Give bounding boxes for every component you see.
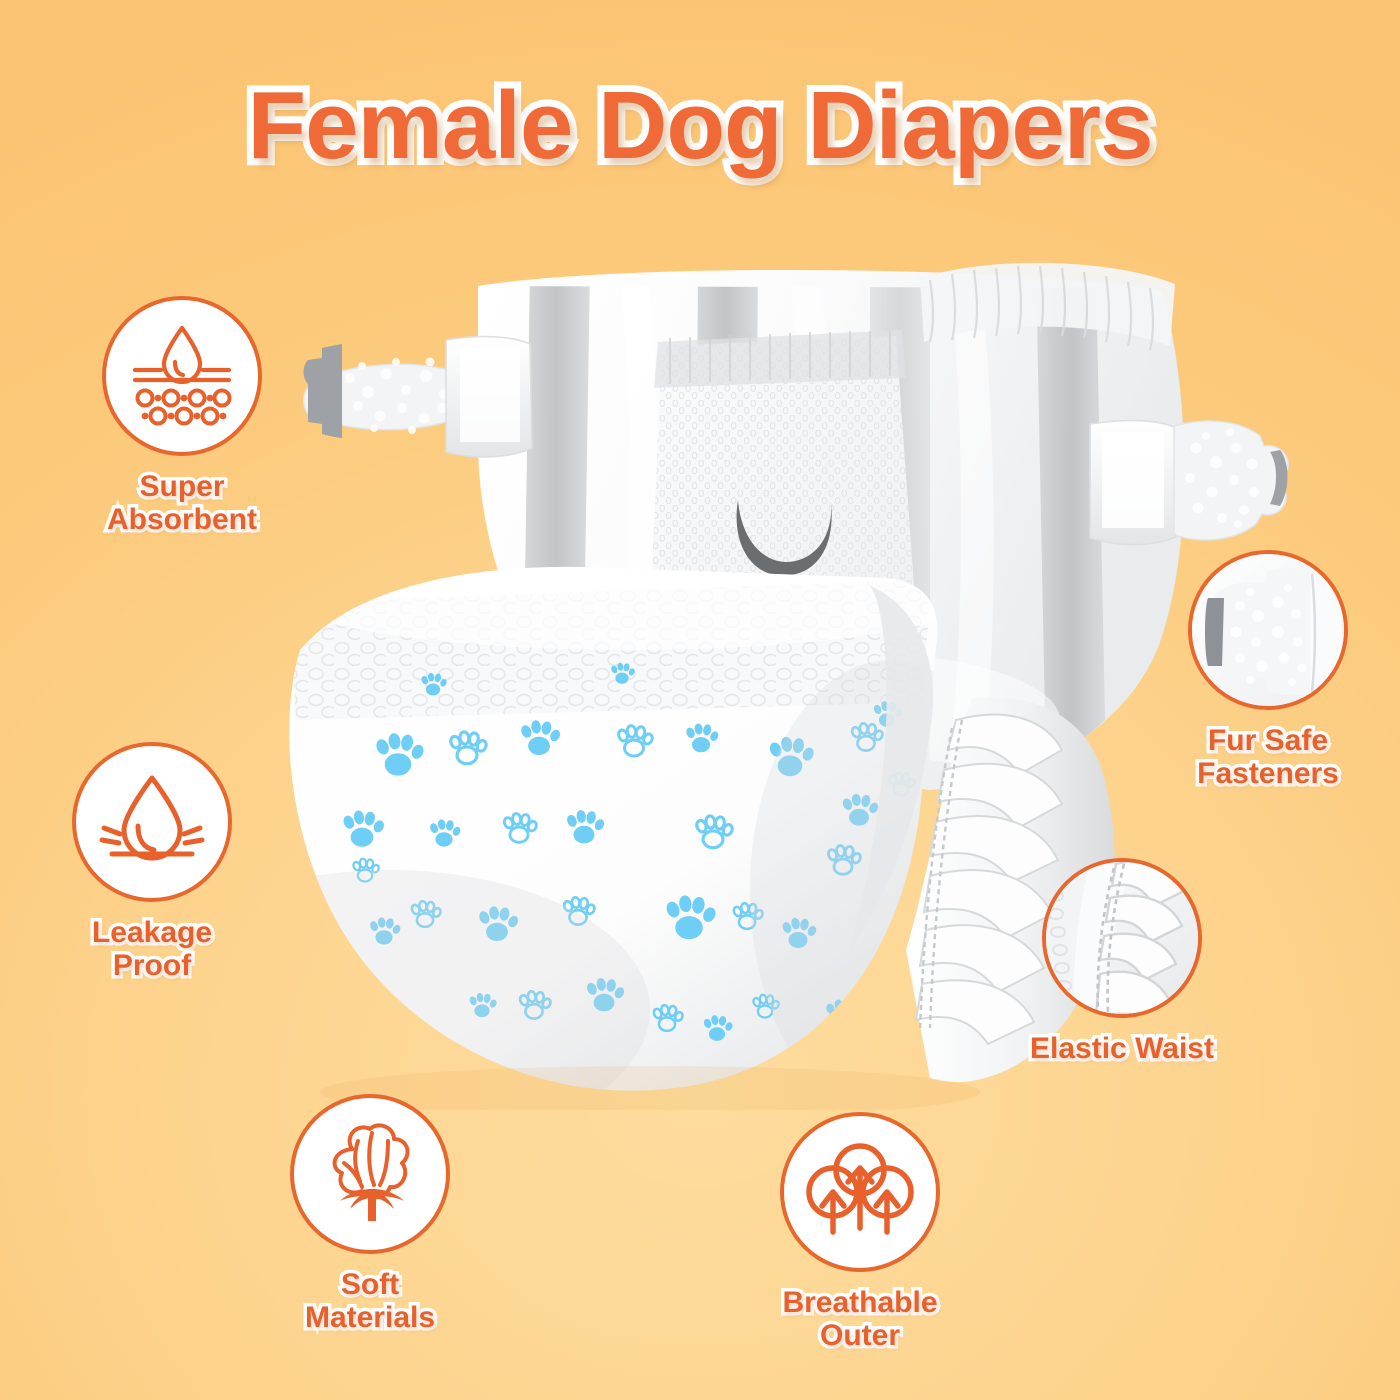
feature-label: Leakage Proof [22,916,282,982]
feature-badge-circle [1042,858,1202,1018]
droplet-repel-surface-icon [96,770,208,874]
cloud-up-arrows-icon [805,1140,915,1244]
absorbent-droplet-layers-icon [123,320,241,432]
feature-fur-safe-fasteners[interactable]: Fur Safe Fasteners [1138,550,1398,790]
page-title: Female Dog Diapers [0,76,1400,177]
feature-badge-circle [780,1112,940,1272]
front-panel [230,530,1030,1110]
feature-badge-circle [102,296,262,456]
cotton-boll-icon [314,1119,426,1229]
right-fastener-tab [1090,421,1288,545]
feature-label: Super Absorbent [52,470,312,536]
feature-super-absorbent[interactable]: Super Absorbent [52,296,312,536]
feature-label: Breathable Outer [730,1286,990,1352]
feature-label: Soft Materials [240,1268,500,1334]
feature-badge-circle [72,742,232,902]
infographic-poster: Female Dog Diapers [0,0,1400,1400]
feature-badge-circle [290,1094,450,1254]
fastener-tab-closeup-photo [1192,554,1344,706]
left-fastener-tab [304,337,533,457]
feature-badge-circle [1188,550,1348,710]
feature-label: Elastic Waist [992,1032,1252,1065]
feature-breathable-outer[interactable]: Breathable Outer [730,1112,990,1352]
feature-leakage-proof[interactable]: Leakage Proof [22,742,282,982]
feature-elastic-waist[interactable]: Elastic Waist [992,858,1252,1065]
elastic-ruffle-closeup-photo [1046,862,1198,1014]
feature-soft-materials[interactable]: Soft Materials [240,1094,500,1334]
feature-label: Fur Safe Fasteners [1138,724,1398,790]
